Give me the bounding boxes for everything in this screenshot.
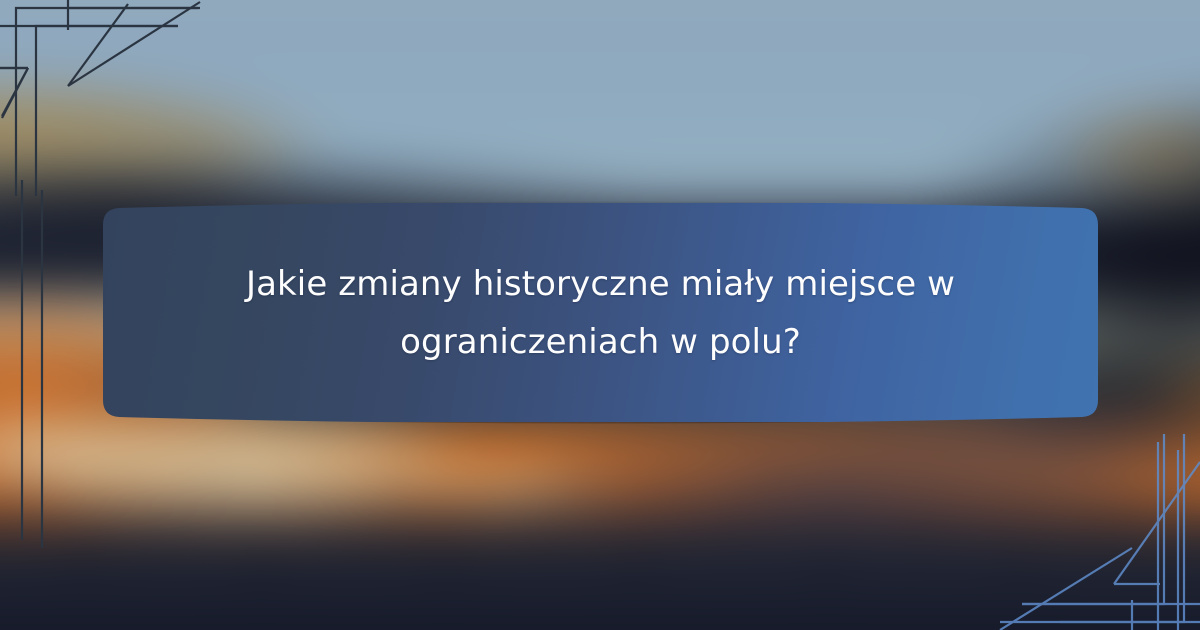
question-text: Jakie zmiany historyczne miały miejsce w… (171, 255, 1031, 371)
question-card: Jakie zmiany historyczne miały miejsce w… (103, 203, 1098, 422)
share-card-canvas: Jakie zmiany historyczne miały miejsce w… (0, 0, 1200, 630)
